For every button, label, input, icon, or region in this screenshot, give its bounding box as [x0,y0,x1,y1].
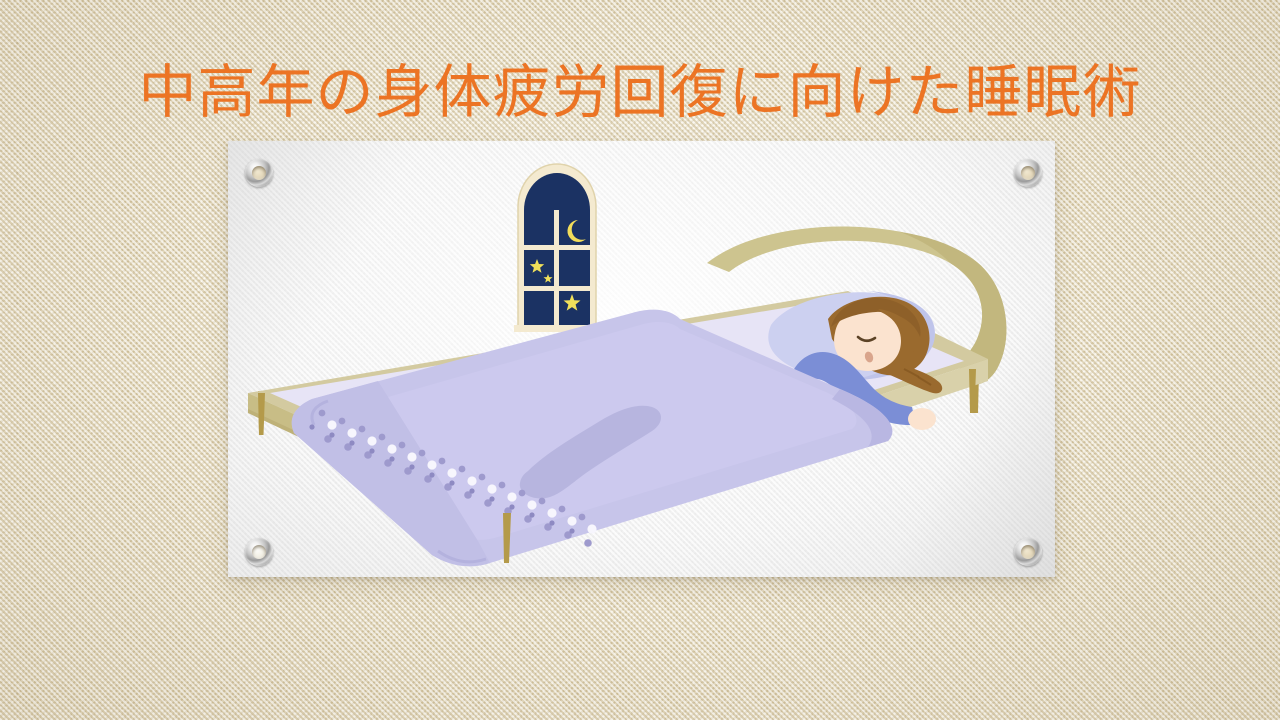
grommet-bottom-right [1014,538,1042,566]
hand [908,408,936,430]
slide-canvas: 中高年の身体疲労回復に向けた睡眠術 [0,0,1280,720]
sleeping-woman-in-bed-illustration [228,141,1055,577]
grommet-top-right [1014,159,1042,187]
page-title: 中高年の身体疲労回復に向けた睡眠術 [0,56,1280,128]
grommet-top-left [245,159,273,187]
grommet-bottom-left [245,538,273,566]
white-banner-panel [228,141,1055,577]
bed-leg-left [258,393,265,435]
arched-night-window [514,164,600,332]
